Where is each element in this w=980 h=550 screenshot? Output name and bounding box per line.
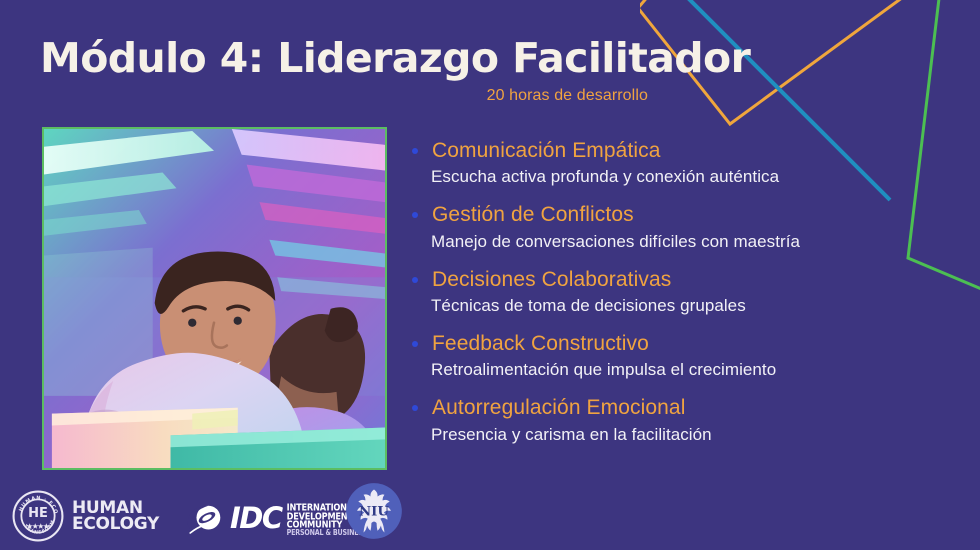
bullet-dot-icon <box>412 277 418 283</box>
logo-idc: IDC INTERNATIONAL DEVELOPMENT COMMUNITY … <box>186 502 367 536</box>
topic-heading: Decisiones Colaborativas <box>432 267 965 293</box>
topic-heading: Feedback Constructivo <box>432 331 965 357</box>
bullet-dot-icon <box>412 405 418 411</box>
bullet-dot-icon <box>412 341 418 347</box>
svg-text:HE: HE <box>28 506 48 521</box>
idc-globe-icon <box>186 502 228 536</box>
list-item[interactable]: Decisiones Colaborativas Técnicas de tom… <box>405 267 965 317</box>
idc-acronym: IDC <box>230 504 282 533</box>
hero-photo <box>42 127 387 470</box>
title-block: Módulo 4: Liderazgo Facilitador 20 horas… <box>40 36 660 105</box>
topics-list: Comunicación Empática Escucha activa pro… <box>405 138 965 446</box>
topic-heading: Gestión de Conflictos <box>432 202 965 228</box>
human-ecology-seal-icon: HUMAN · ECOLOGY TRANSFORM HE <box>12 490 64 542</box>
list-item[interactable]: Comunicación Empática Escucha activa pro… <box>405 138 965 188</box>
footer-logos: HUMAN · ECOLOGY TRANSFORM HE HUMAN ECOLO… <box>0 478 980 550</box>
topic-heading: Comunicación Empática <box>432 138 965 164</box>
list-item[interactable]: Gestión de Conflictos Manejo de conversa… <box>405 202 965 252</box>
photo-illustration <box>44 129 385 468</box>
topic-description: Presencia y carisma en la facilitación <box>431 424 965 446</box>
topic-heading: Autorregulación Emocional <box>432 395 965 421</box>
human-ecology-wordmark: HUMAN ECOLOGY <box>72 500 159 533</box>
list-item[interactable]: Feedback Constructivo Retroalimentación … <box>405 331 965 381</box>
bullet-dot-icon <box>412 148 418 154</box>
topic-description: Manejo de conversaciones difíciles con m… <box>431 231 965 253</box>
he-word-line-2: ECOLOGY <box>72 516 159 532</box>
page-subtitle: 20 horas de desarrollo <box>40 87 660 105</box>
bullet-dot-icon <box>412 212 418 218</box>
topic-description: Retroalimentación que impulsa el crecimi… <box>431 359 965 381</box>
topic-description: Técnicas de toma de decisiones grupales <box>431 295 965 317</box>
list-item[interactable]: Autorregulación Emocional Presencia y ca… <box>405 395 965 445</box>
niu-acronym: NIU <box>359 504 389 520</box>
slide-root: { "theme": { "background": "#3d3580", "t… <box>0 0 980 550</box>
page-title: Módulo 4: Liderazgo Facilitador <box>40 36 660 80</box>
logo-niu: NIU <box>345 482 403 540</box>
logo-human-ecology: HUMAN · ECOLOGY TRANSFORM HE HUMAN ECOLO… <box>12 490 159 542</box>
topic-description: Escucha activa profunda y conexión autén… <box>431 166 965 188</box>
